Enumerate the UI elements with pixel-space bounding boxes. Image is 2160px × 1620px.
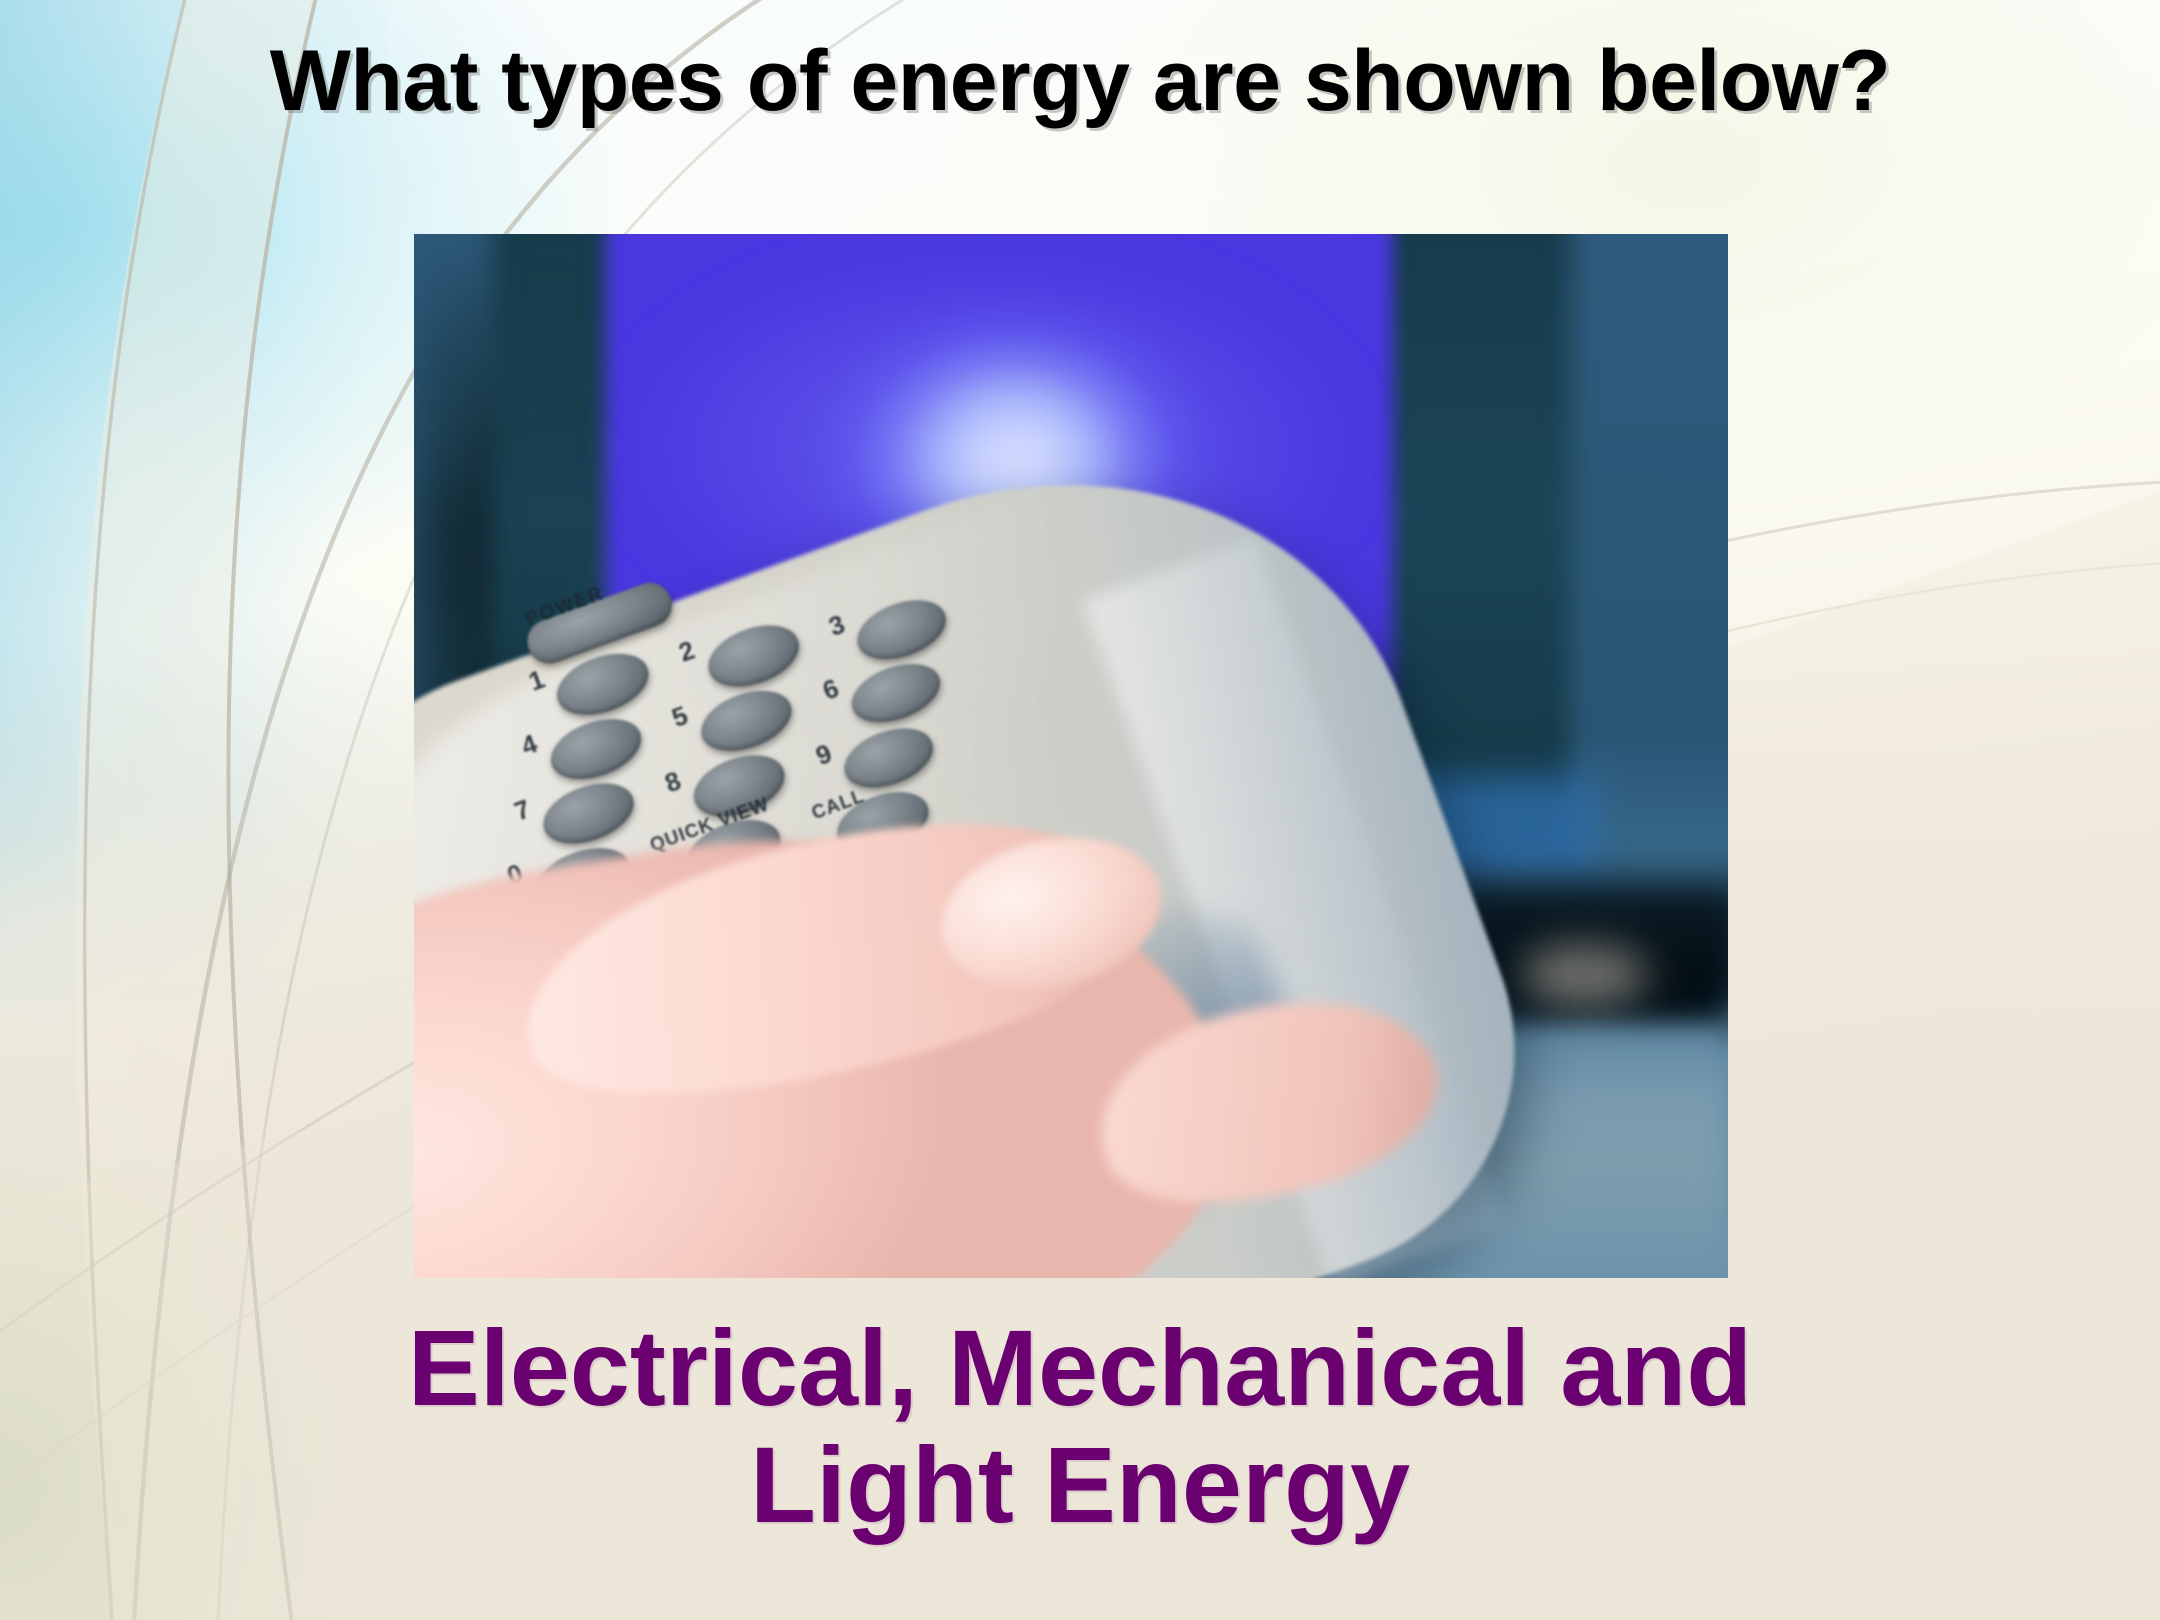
remote-key-1-label: 1 xyxy=(524,663,548,697)
remote-key-4-label: 4 xyxy=(517,728,541,762)
remote-key-3-label: 3 xyxy=(825,608,849,642)
remote-key-5 xyxy=(693,679,800,762)
remote-key-7-label: 7 xyxy=(510,793,534,827)
answer-line-1: Electrical, Mechanical and xyxy=(0,1310,2160,1427)
slide-title: What types of energy are shown below? xyxy=(0,36,2160,126)
remote-key-6 xyxy=(844,653,948,733)
slide-canvas: What types of energy are shown below? PO… xyxy=(0,0,2160,1620)
remote-key-8-label: 8 xyxy=(661,765,685,799)
remote-key-9 xyxy=(836,718,940,798)
remote-key-7 xyxy=(535,772,642,855)
remote-key-9-label: 9 xyxy=(812,738,836,772)
answer-line-2: Light Energy xyxy=(0,1427,2160,1544)
energy-photo: POWER 1 2 3 4 5 6 7 8 9 0 xyxy=(414,234,1728,1278)
remote-key-2-label: 2 xyxy=(675,634,699,668)
remote-key-2 xyxy=(700,614,807,697)
answer-text: Electrical, Mechanical and Light Energy xyxy=(0,1310,2160,1543)
remote-key-4 xyxy=(542,707,649,790)
remote-key-5-label: 5 xyxy=(668,700,692,734)
remote-key-6-label: 6 xyxy=(819,673,843,707)
remote-key-3 xyxy=(850,589,954,669)
